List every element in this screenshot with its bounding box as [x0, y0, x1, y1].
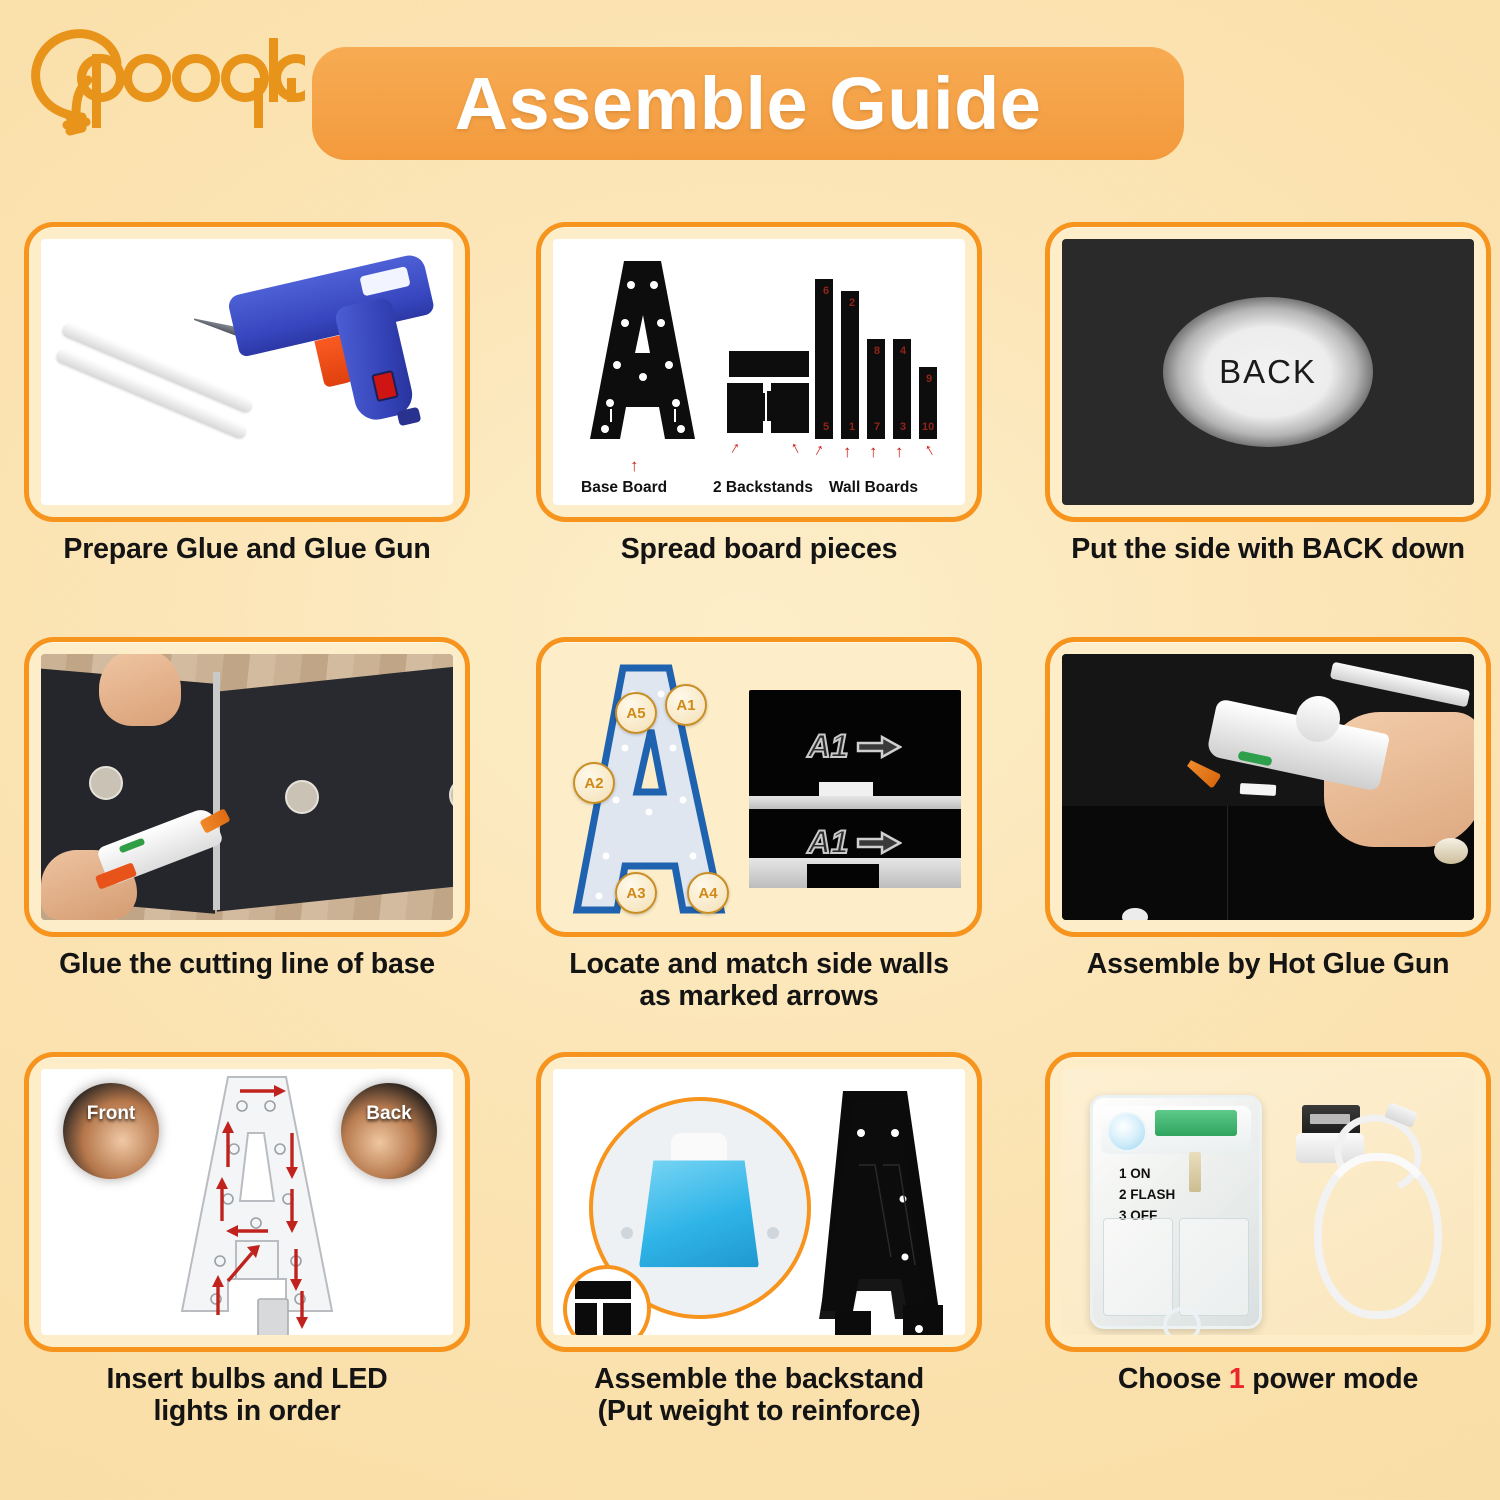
arrow-alignment-detail-photo: A1 A1 [749, 690, 961, 888]
step-8-frame [536, 1052, 982, 1352]
backstand-piece [729, 351, 809, 377]
step-card-5: A1 A2 A3 A4 A5 A1 A1 [536, 637, 1006, 1013]
step-5-frame: A1 A2 A3 A4 A5 A1 A1 [536, 637, 982, 937]
arrow-label-a1-bottom: A1 [808, 824, 849, 861]
glue-gun-illustration [41, 239, 453, 505]
step-4-frame [24, 637, 470, 937]
usb-cable [1290, 1099, 1440, 1319]
usb-cable-loop-lower [1314, 1153, 1442, 1319]
step-1-frame [24, 222, 470, 522]
step-9-caption: Choose 1 power mode [1045, 1363, 1491, 1395]
step-7-caption: Insert bulbs and LED lights in order [24, 1363, 470, 1428]
wall-board-number: 2 [849, 297, 855, 309]
backstand-piece [731, 393, 765, 421]
bulb-hole [285, 780, 319, 814]
step-3-frame: BACK [1045, 222, 1491, 522]
board-tab [819, 782, 873, 796]
step-card-3: BACK Put the side with BACK down [1045, 222, 1500, 565]
blue-water-bag-icon [639, 1153, 759, 1277]
part-label-base-board: Base Board [581, 479, 667, 497]
back-marking-text: BACK [1219, 353, 1317, 391]
battery-contact [1189, 1152, 1201, 1192]
round-weight-disc [1122, 908, 1148, 920]
letter-a-assembly-icon: A1 A2 A3 A4 A5 [561, 660, 736, 920]
front-inset-photo: Front [63, 1083, 159, 1179]
power-mode-on: 1 ON [1119, 1164, 1175, 1185]
step-9-frame: 1 ON 2 FLASH 3 OFF [1045, 1052, 1491, 1352]
step-card-6: Assemble by Hot Glue Gun [1045, 637, 1500, 980]
step-9-caption-highlight: 1 [1229, 1363, 1245, 1395]
board-notch [807, 864, 879, 888]
step-6-caption: Assemble by Hot Glue Gun [1045, 948, 1491, 980]
wall-marker-a2: A2 [573, 762, 615, 804]
glue-residue [1240, 783, 1277, 796]
wall-board-number: 7 [874, 421, 880, 433]
power-box-photo: 1 ON 2 FLASH 3 OFF [1062, 1069, 1474, 1335]
step-9-caption-suffix: power mode [1245, 1363, 1419, 1395]
step-card-4: Glue the cutting line of base [24, 637, 494, 980]
circuit-board [1155, 1110, 1237, 1136]
mount-screw [767, 1227, 779, 1239]
wall-board-number: 9 [926, 373, 932, 385]
pointer-arrow-icon: ↑ [788, 438, 803, 457]
battery-box: 1 ON 2 FLASH 3 OFF [1090, 1095, 1262, 1329]
spotlight-glow: BACK [1163, 297, 1373, 447]
step-7-caption-line1: Insert bulbs and LED [24, 1363, 470, 1395]
hot-glue-gun-assembly-photo [1062, 654, 1474, 920]
page-header: Assemble Guide [0, 0, 1500, 200]
step-8-caption-line2: (Put weight to reinforce) [536, 1395, 982, 1427]
wall-board-number: 1 [849, 421, 855, 433]
step-4-caption: Glue the cutting line of base [24, 948, 470, 980]
step-7-caption-line2: lights in order [24, 1395, 470, 1427]
step-2-caption: Spread board pieces [536, 533, 982, 565]
step-7-frame: Front Back [24, 1052, 470, 1352]
brand-logo [20, 18, 305, 138]
inset-label-front: Front [63, 1103, 159, 1125]
step-card-2: ↑ Base Board ↑ ↑ 2 Backstands 6 5 2 1 [536, 222, 1006, 565]
pointer-arrow-icon: ↑ [812, 440, 827, 459]
round-weight-disc [1434, 838, 1468, 864]
pointer-arrow-icon: ↑ [895, 443, 904, 460]
right-arrow-icon [856, 735, 902, 759]
pointer-arrow-icon: ↑ [921, 440, 937, 459]
wall-marker-a3: A3 [615, 872, 657, 914]
battery-slot [1179, 1218, 1249, 1316]
wall-board-number: 6 [823, 285, 829, 297]
wall-marker-a5: A5 [615, 692, 657, 734]
step-3-caption: Put the side with BACK down [1045, 533, 1491, 565]
step-card-1: Prepare Glue and Glue Gun [24, 222, 494, 565]
floor-seam-line [1227, 806, 1228, 920]
step-card-8: Assemble the backstand (Put weight to re… [536, 1052, 1006, 1428]
wall-board-number: 5 [823, 421, 829, 433]
step-5-caption-line1: Locate and match side walls [536, 948, 982, 980]
detail-arrow-row-top: A1 [749, 728, 961, 765]
backstand-right-piece [603, 1303, 631, 1335]
arrow-label-a1-top: A1 [808, 728, 849, 765]
wall-marker-a4: A4 [687, 872, 729, 914]
board-pieces-diagram: ↑ Base Board ↑ ↑ 2 Backstands 6 5 2 1 [553, 239, 965, 505]
part-label-wall-boards: Wall Boards [829, 479, 918, 497]
wall-board-number: 10 [922, 421, 934, 433]
hanging-loop [1163, 1307, 1201, 1335]
backstand-assembly-photo [553, 1069, 965, 1335]
detail-arrow-row-bottom: A1 [749, 824, 961, 861]
pointer-arrow-icon: ↑ [869, 443, 878, 460]
led-indicator-icon [1107, 1112, 1147, 1152]
step-8-caption-line1: Assemble the backstand [536, 1363, 982, 1395]
wall-board-number: 4 [900, 345, 906, 357]
wall-board [815, 279, 833, 439]
step-1-caption: Prepare Glue and Glue Gun [24, 533, 470, 565]
bulb-hole [89, 766, 123, 800]
step-5-caption-line2: as marked arrows [536, 980, 982, 1012]
hand-holding-board [99, 654, 181, 726]
pointer-arrow-icon: ↑ [727, 438, 743, 457]
board-edge-band [749, 796, 961, 809]
inset-label-back: Back [341, 1103, 437, 1125]
backstand-stack-icon [799, 1079, 959, 1335]
wall-marker-a1: A1 [665, 684, 707, 726]
backstand-left-piece [575, 1303, 597, 1335]
step-9-caption-prefix: Choose [1118, 1363, 1229, 1395]
power-mode-flash: 2 FLASH [1119, 1185, 1175, 1206]
step-2-frame: ↑ Base Board ↑ ↑ 2 Backstands 6 5 2 1 [536, 222, 982, 522]
bulb-insertion-diagram: Front Back [41, 1069, 453, 1335]
step-5-caption: Locate and match side walls as marked ar… [536, 948, 982, 1013]
right-arrow-icon [856, 831, 902, 855]
wall-board-number: 8 [874, 345, 880, 357]
wall-board-number: 3 [900, 421, 906, 433]
side-wall-matching-diagram: A1 A2 A3 A4 A5 A1 A1 [553, 654, 965, 920]
base-board-letter-a-icon [569, 257, 709, 457]
backstand-top-piece [575, 1281, 631, 1299]
step-8-caption: Assemble the backstand (Put weight to re… [536, 1363, 982, 1428]
mount-screw [621, 1227, 633, 1239]
glue-gun-cord-icon [397, 407, 422, 427]
page-title: Assemble Guide [455, 61, 1042, 146]
cutting-line-seam [213, 672, 220, 910]
part-label-backstands: 2 Backstands [713, 479, 813, 497]
pointer-arrow-icon: ↑ [843, 443, 852, 460]
backstand-piece [767, 391, 797, 421]
battery-slot [1103, 1218, 1173, 1316]
gluing-base-seam-photo [41, 654, 453, 920]
step-card-7: Front Back Insert bulbs and LED lights i… [24, 1052, 494, 1428]
back-inset-photo: Back [341, 1083, 437, 1179]
lightbulb-p-logo-icon [20, 18, 305, 138]
pointer-arrow-icon: ↑ [630, 457, 639, 474]
wall-board [841, 291, 859, 439]
right-base-board [217, 664, 453, 911]
step-6-frame [1045, 637, 1491, 937]
back-marking-photo: BACK [1062, 239, 1474, 505]
step-card-9: 1 ON 2 FLASH 3 OFF [1045, 1052, 1500, 1395]
page-title-banner: Assemble Guide [312, 47, 1184, 160]
steps-grid: Prepare Glue and Glue Gun [0, 200, 1500, 1500]
